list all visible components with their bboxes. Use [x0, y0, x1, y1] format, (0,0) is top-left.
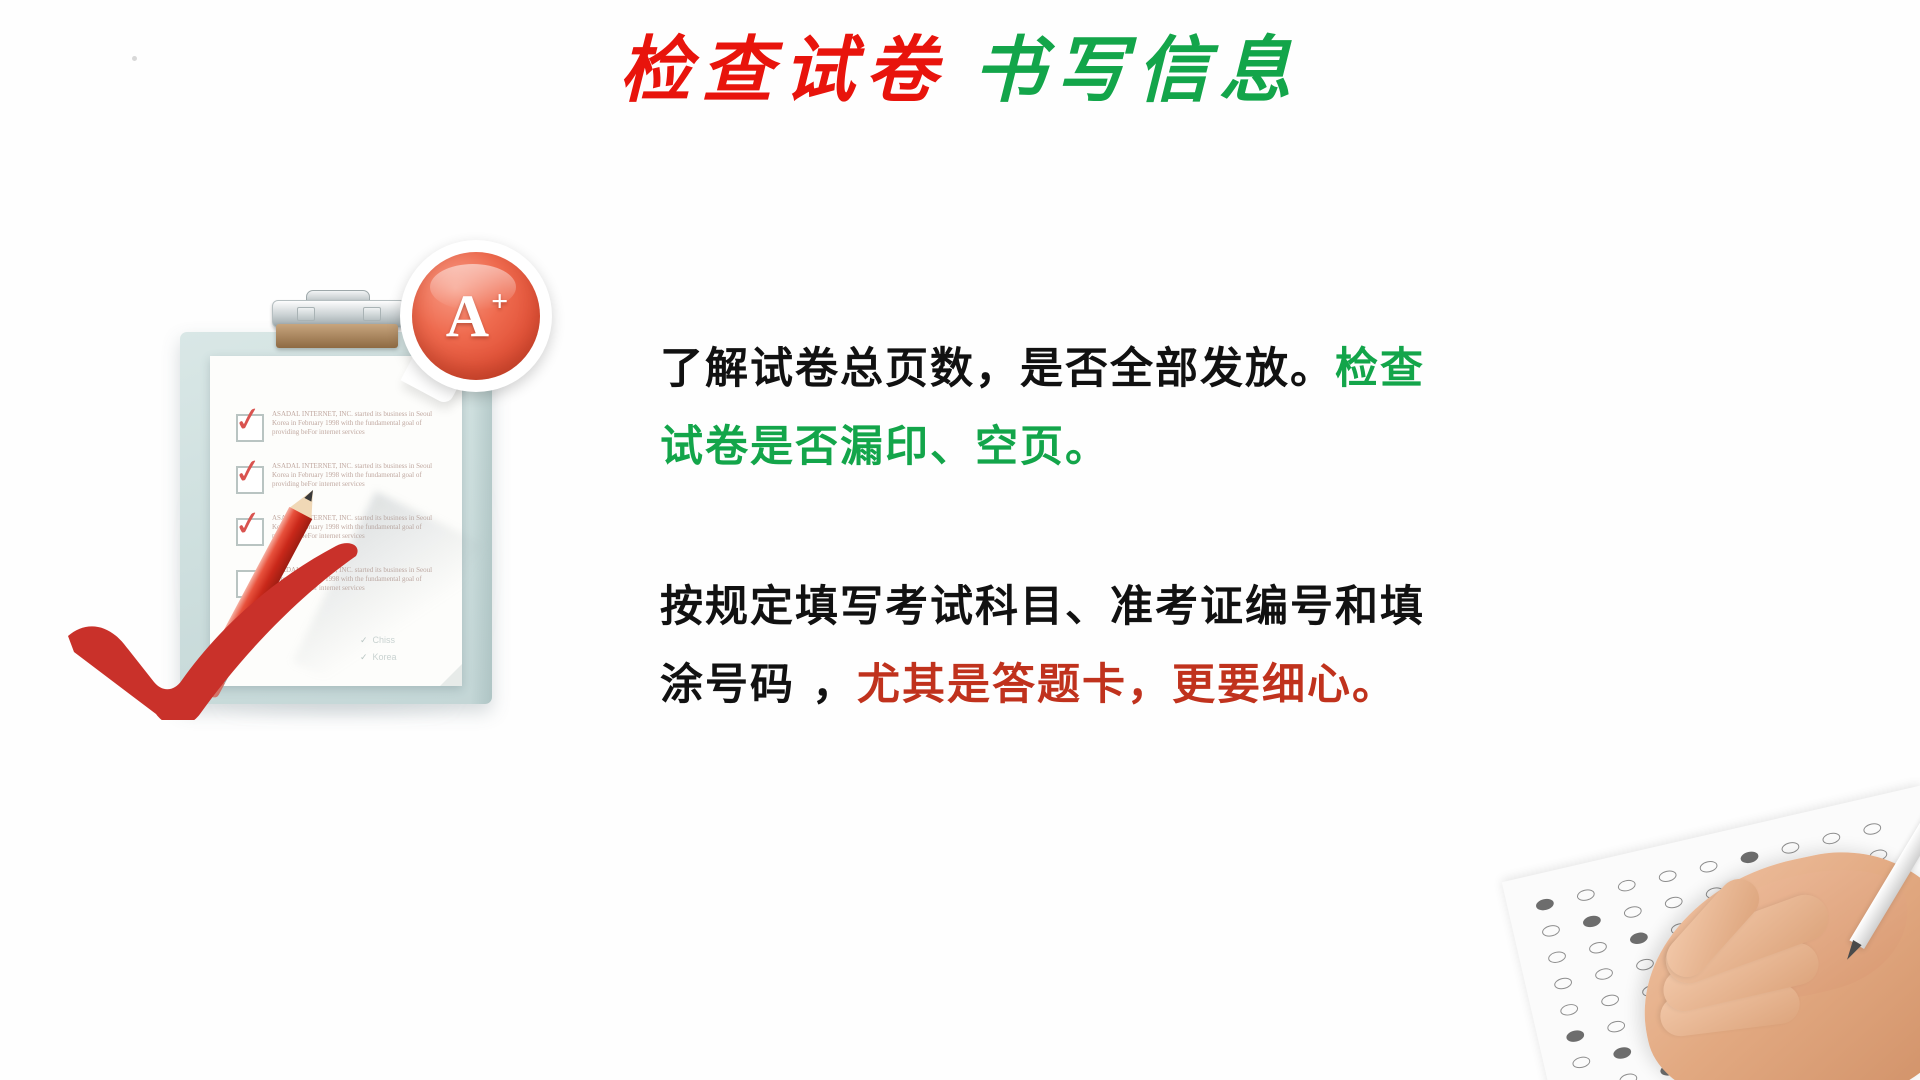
clip-rivet-left [297, 307, 315, 321]
title-red-segment: 检查试卷 [619, 27, 947, 112]
paragraph-two-black-line2: 涂号码 ， [660, 660, 857, 710]
grade-label: A+ [412, 252, 540, 380]
paragraph-one: 了解试卷总页数，是否全部发放。检查 试卷是否漏印、空页。 [660, 330, 1860, 486]
clip-rivet-right [363, 307, 381, 321]
slide-canvas: 检查试卷书写信息 ✓ ASADAL INTERNET, INC. started… [0, 0, 1920, 1080]
check-mark-icon: ✓ [231, 398, 265, 442]
paragraph-one-black-text: 了解试卷总页数，是否全部发放。 [660, 344, 1335, 394]
paper-fold-corner [440, 664, 462, 686]
clip-base [276, 324, 398, 348]
checklist-row: ✓ ASADAL INTERNET, INC. started its busi… [236, 462, 448, 506]
grade-badge: A+ [400, 240, 560, 412]
body-text-block: 了解试卷总页数，是否全部发放。检查 试卷是否漏印、空页。 按规定填写考试科目、准… [660, 330, 1860, 724]
title-green-segment: 书写信息 [973, 27, 1301, 112]
paragraph-two: 按规定填写考试科目、准考证编号和填 涂号码 ，尤其是答题卡，更要细心。 [660, 568, 1860, 724]
hand-illustration [1540, 780, 1920, 1080]
clipboard-illustration: ✓ ASADAL INTERNET, INC. started its busi… [60, 240, 580, 710]
hand-photo [1360, 750, 1920, 1080]
checklist-row-text: ASADAL INTERNET, INC. started its busine… [272, 462, 448, 489]
paragraph-two-black-line1: 按规定填写考试科目、准考证编号和填 [660, 582, 1425, 632]
paragraph-two-red-text: 尤其是答题卡，更要细心。 [857, 660, 1397, 710]
checklist-row-text: ASADAL INTERNET, INC. started its busine… [272, 410, 448, 437]
paragraph-one-green-text: 检查 [1335, 344, 1425, 394]
paragraph-one-green-line2: 试卷是否漏印、空页。 [660, 422, 1110, 472]
check-mark-icon: ✓ [231, 450, 265, 494]
grade-letter: A [446, 282, 489, 351]
big-check-mark-icon [50, 540, 390, 720]
page-title: 检查试卷书写信息 [0, 28, 1920, 113]
checklist-row: ✓ ASADAL INTERNET, INC. started its busi… [236, 410, 448, 454]
